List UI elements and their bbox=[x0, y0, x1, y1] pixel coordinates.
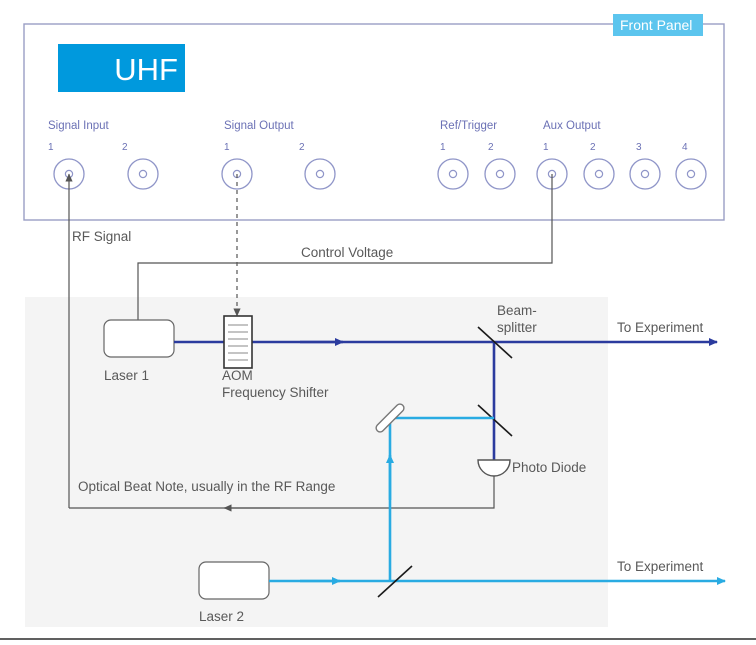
control-voltage-label: Control Voltage bbox=[301, 245, 393, 260]
laser-2-label: Laser 2 bbox=[199, 609, 244, 624]
connector-number-aux-output-3: 3 bbox=[636, 142, 642, 153]
group-label-aux-output: Aux Output bbox=[543, 120, 601, 132]
connector-number-aux-output-1: 1 bbox=[543, 142, 549, 153]
photo-diode-label: Photo Diode bbox=[512, 460, 586, 475]
connector-number-aux-output-2: 2 bbox=[590, 142, 596, 153]
front-panel-badge: Front Panel bbox=[613, 14, 703, 36]
uhf-logo-text: UHF bbox=[114, 52, 178, 87]
to-experiment-bottom-label: To Experiment bbox=[617, 559, 704, 574]
uhf-logo: UHF bbox=[58, 44, 185, 92]
aom-frequency-shifter bbox=[224, 316, 252, 368]
laser-2 bbox=[199, 562, 269, 599]
beamsplitter-label-line1: Beam- bbox=[497, 303, 537, 318]
aom-label-line2: Frequency Shifter bbox=[222, 385, 329, 400]
connector-number-ref-trigger-1: 1 bbox=[440, 142, 446, 153]
optical-beat-note-label: Optical Beat Note, usually in the RF Ran… bbox=[78, 479, 335, 494]
aom-label-line1: AOM bbox=[222, 368, 253, 383]
diagram-canvas: Front Panel UHF Signal Input 1 2 Signal … bbox=[0, 0, 756, 645]
connector-number-signal-output-1: 1 bbox=[224, 142, 230, 153]
connector-number-signal-output-2: 2 bbox=[299, 142, 305, 153]
connector-number-ref-trigger-2: 2 bbox=[488, 142, 494, 153]
front-panel-badge-label: Front Panel bbox=[620, 17, 692, 33]
to-experiment-top-label: To Experiment bbox=[617, 320, 704, 335]
rf-signal-label: RF Signal bbox=[72, 229, 131, 244]
connector-number-aux-output-4: 4 bbox=[682, 142, 688, 153]
laser-1-label: Laser 1 bbox=[104, 368, 149, 383]
connector-number-signal-input-1: 1 bbox=[48, 142, 54, 153]
group-label-signal-output: Signal Output bbox=[224, 120, 294, 132]
laser-1 bbox=[104, 320, 174, 357]
group-label-ref-trigger: Ref/Trigger bbox=[440, 120, 497, 132]
connector-number-signal-input-2: 2 bbox=[122, 142, 128, 153]
beamsplitter-label-line2: splitter bbox=[497, 320, 537, 335]
group-label-signal-input: Signal Input bbox=[48, 120, 110, 132]
